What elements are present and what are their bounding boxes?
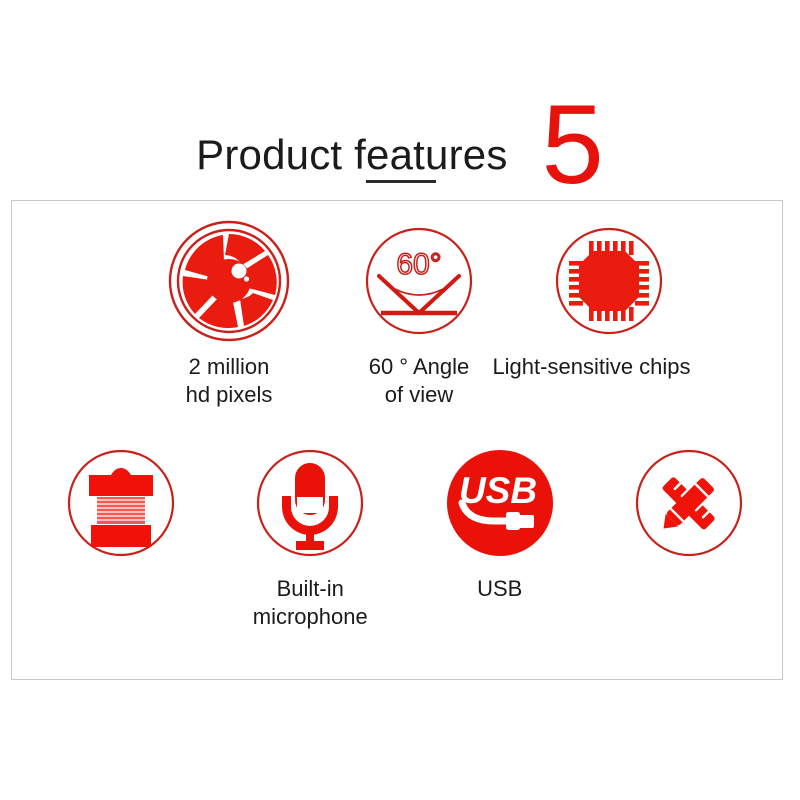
feature-item-coil[interactable]: [26, 441, 216, 630]
title-underline: [366, 180, 436, 183]
feature-row-2: Built-in microphone USB USB: [12, 441, 784, 630]
pencil-ruler-icon: [627, 441, 751, 565]
chip-icon: [547, 219, 671, 343]
page-title: Product features: [196, 131, 507, 178]
page-header: Product features5: [0, 0, 800, 200]
feature-item-pencil-ruler[interactable]: [595, 441, 785, 630]
feature-label-hd-pixels: 2 million hd pixels: [186, 353, 273, 408]
feature-item-usb[interactable]: USB USB: [405, 441, 595, 630]
angle-of-view-icon: 60°: [357, 219, 481, 343]
coil-icon: [59, 441, 183, 565]
usb-icon: USB: [438, 441, 562, 565]
section-number: 5: [542, 82, 604, 207]
feature-label-microphone: Built-in microphone: [253, 575, 368, 630]
angle-value-text: 60°: [396, 248, 441, 281]
feature-row-1: 2 million hd pixels 60° 60 ° Angle of vi…: [12, 219, 784, 408]
features-panel: 2 million hd pixels 60° 60 ° Angle of vi…: [11, 200, 783, 680]
microphone-icon: [248, 441, 372, 565]
feature-item-light-sensitive-chips[interactable]: Light-sensitive chips: [514, 219, 704, 408]
feature-item-microphone[interactable]: Built-in microphone: [216, 441, 406, 630]
feature-label-light-sensitive-chips: Light-sensitive chips: [462, 353, 722, 381]
camera-aperture-icon: [167, 219, 291, 343]
feature-label-usb: USB: [477, 575, 522, 603]
title-row: Product features5: [0, 86, 800, 179]
usb-label-text: USB: [459, 470, 537, 511]
feature-item-hd-pixels[interactable]: 2 million hd pixels: [134, 219, 324, 408]
feature-label-angle-of-view: 60 ° Angle of view: [369, 353, 470, 408]
